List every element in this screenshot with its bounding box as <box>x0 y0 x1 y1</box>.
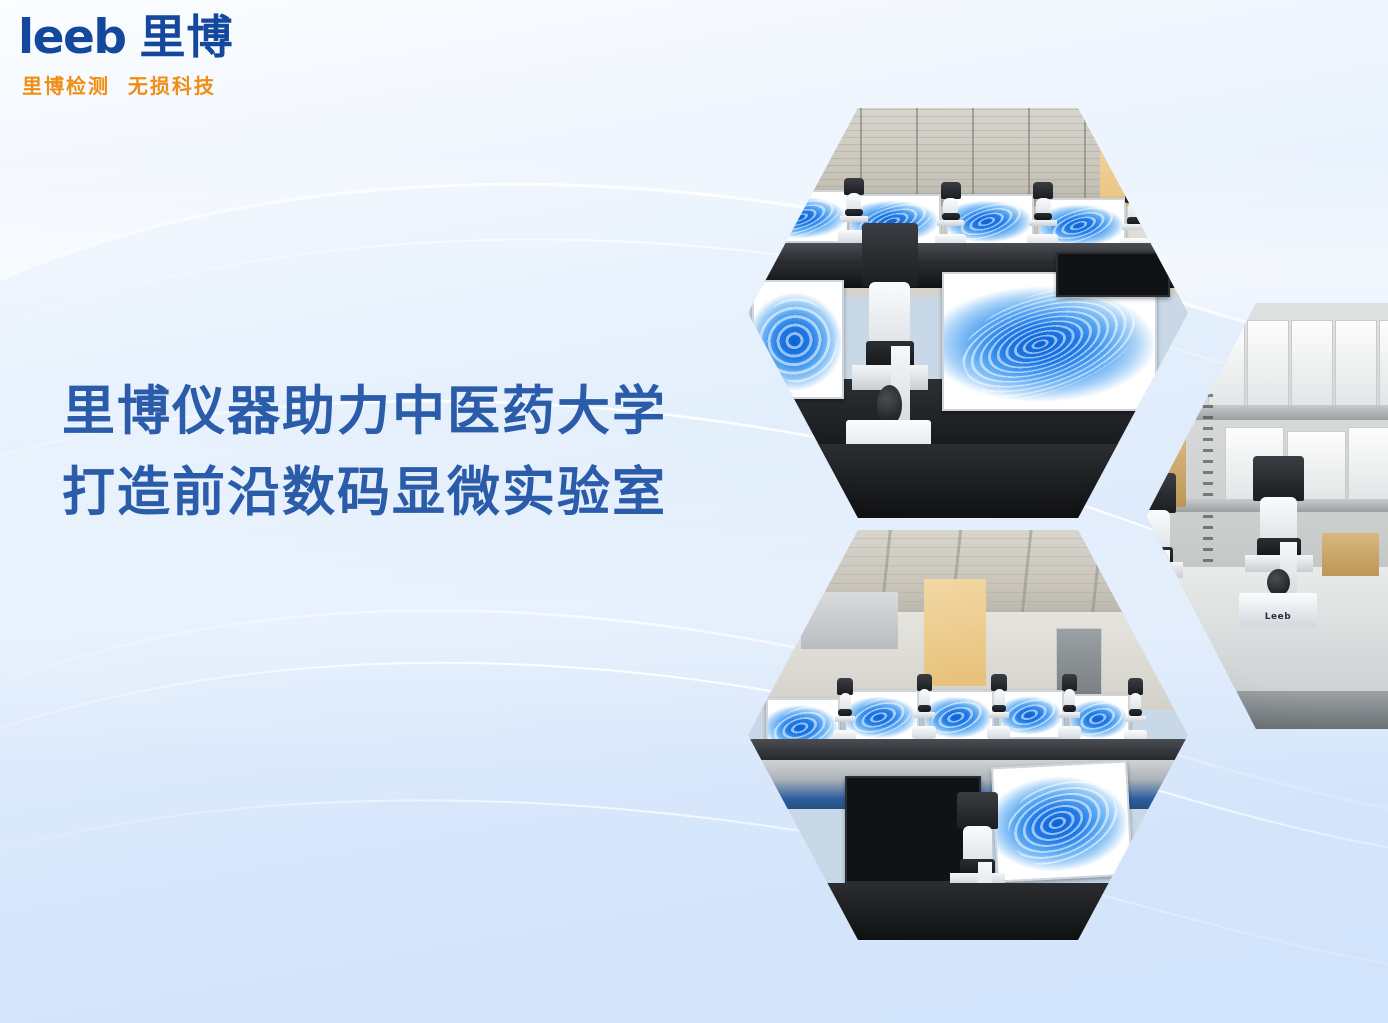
logo-wordmark-row: leeb 里博 <box>18 14 318 61</box>
headline-line-1: 里博仪器助力中医药大学 <box>62 372 762 453</box>
headline-line-2: 打造前沿数码显微实验室 <box>62 453 762 534</box>
logo-tagline: 里博检测 无损科技 <box>22 70 318 99</box>
lab-bench-surface <box>748 739 1188 760</box>
photo-scene-classroom: Leeb <box>748 108 1188 518</box>
logo-latin-wordmark: leeb <box>18 14 126 61</box>
carton-2 <box>1247 320 1289 407</box>
headline-block: 里博仪器助力中医药大学 打造前沿数码显微实验室 <box>62 372 762 533</box>
monitor-mid-dark <box>1056 252 1170 297</box>
microscope-row-3 <box>986 674 1012 740</box>
carton-mid-3 <box>1348 427 1388 501</box>
carton-3 <box>1291 320 1333 407</box>
lab-blinds <box>801 592 898 649</box>
monitor-mid-left <box>752 280 844 399</box>
microscope-assembly-1: Leeb <box>1234 456 1322 626</box>
lab-foreground-desk <box>748 883 1188 940</box>
table-edge <box>1146 691 1388 729</box>
microscope-far-2 <box>933 182 968 248</box>
hex-photo-digital-microscopy-classroom[interactable]: Leeb <box>748 108 1188 518</box>
microscope-assembly-4 <box>1146 473 1190 626</box>
desk-front <box>748 444 1188 518</box>
microscope-foreground: Leeb <box>840 223 937 469</box>
rack-post <box>1203 337 1213 584</box>
monitor-foreground-bright <box>991 760 1133 882</box>
microscope-row-2 <box>911 674 937 740</box>
carton-1 <box>1208 324 1245 407</box>
photo-scene-lab-rows <box>748 530 1188 940</box>
carton-4 <box>1335 320 1377 407</box>
hex-photo-microscope-lab-rows[interactable] <box>748 530 1188 940</box>
brand-logo[interactable]: leeb 里博 里博检测 无损科技 <box>18 14 318 99</box>
microscope-row-1 <box>832 678 858 744</box>
lab-window <box>924 579 986 686</box>
promo-banner: leeb 里博 里博检测 无损科技 里博仪器助力中医药大学 打造前沿数码显微实验… <box>0 0 1388 1023</box>
hex-photo-microscope-assembly-warehouse[interactable]: Leeb Leeb <box>1146 303 1388 729</box>
microscope-far-4 <box>1118 186 1153 252</box>
microscope-brand-label: Leeb <box>1265 612 1291 622</box>
tape-roll-box <box>1322 533 1379 576</box>
microscope-row-4 <box>1056 674 1082 740</box>
monitor-far-1 <box>757 190 849 243</box>
carton-5 <box>1379 320 1388 407</box>
microscope-row-5 <box>1122 678 1148 744</box>
microscope-far-3 <box>1025 182 1060 248</box>
photo-scene-warehouse: Leeb Leeb <box>1146 303 1388 729</box>
logo-chinese-wordmark: 里博 <box>140 14 234 60</box>
